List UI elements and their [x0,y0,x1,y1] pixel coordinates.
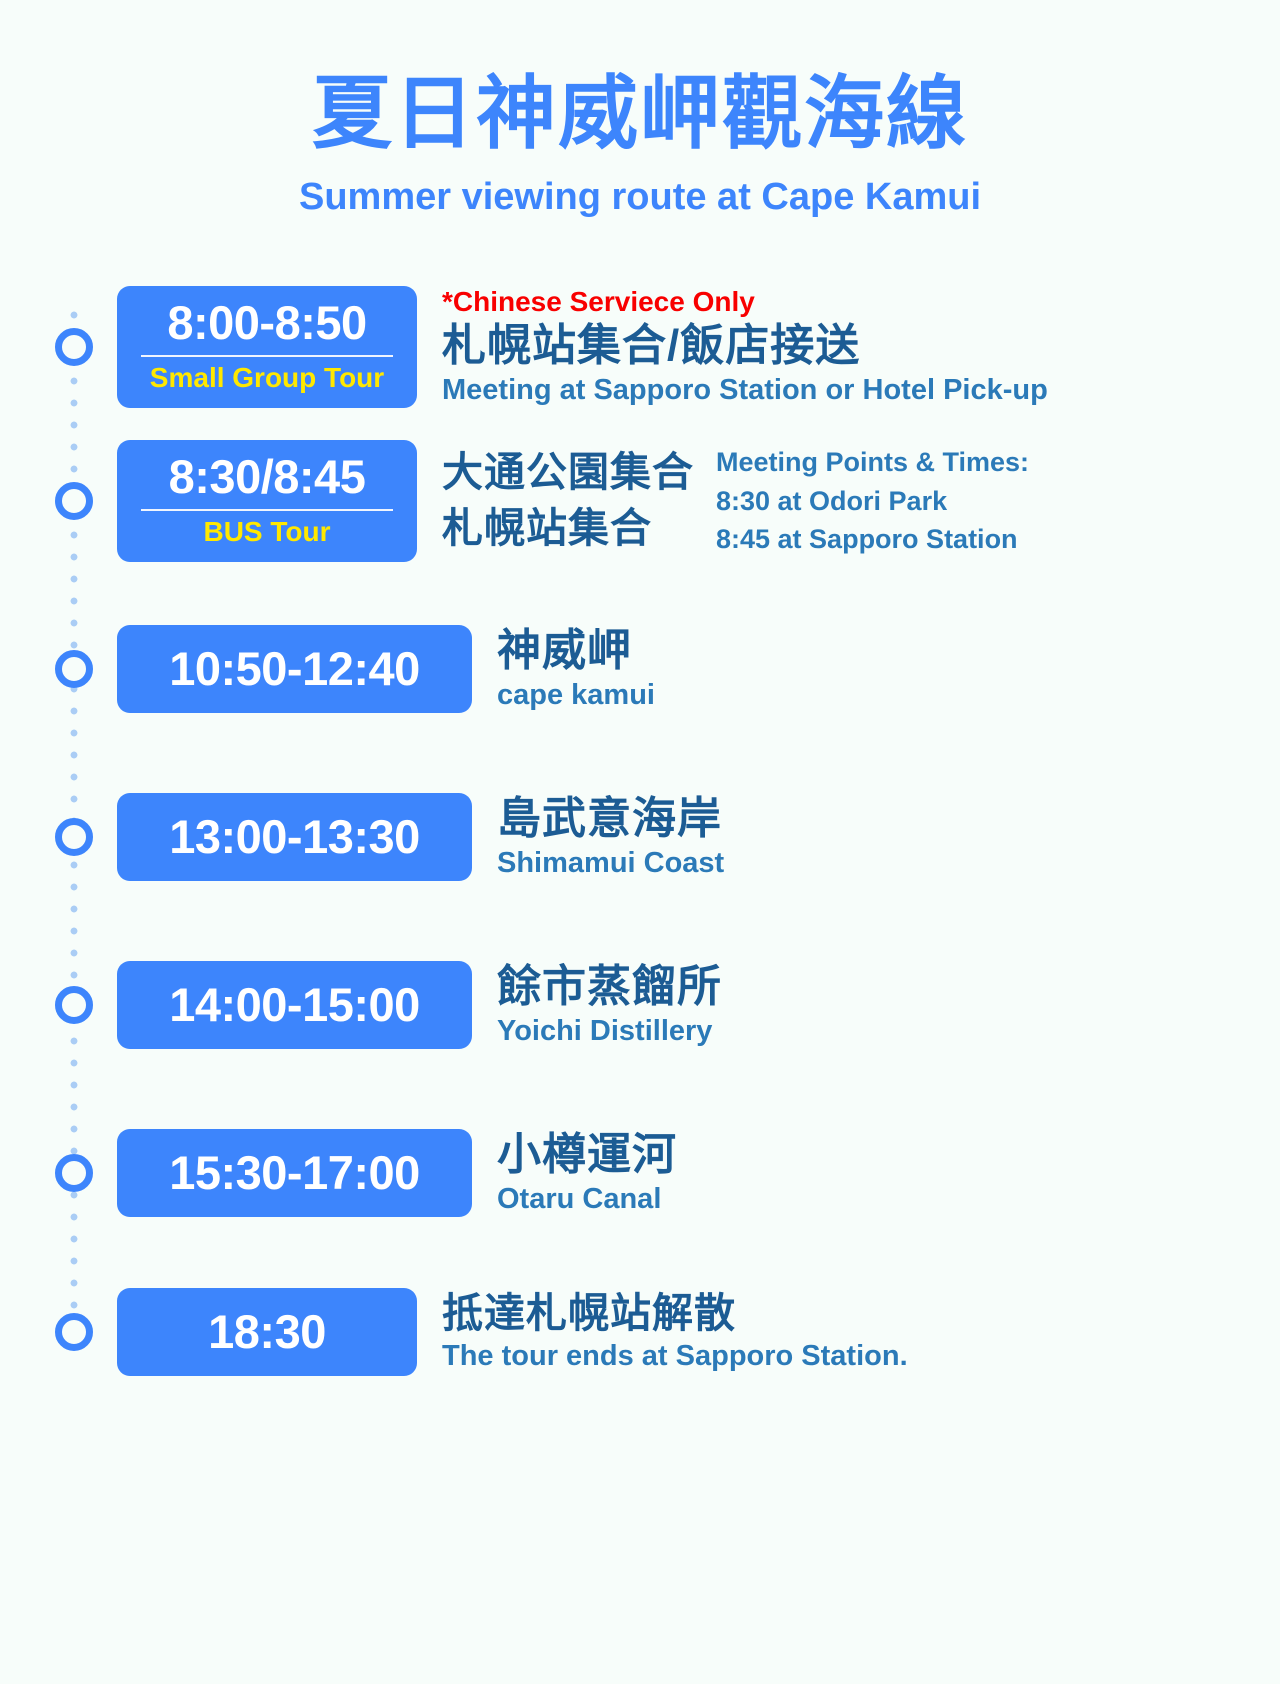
itinerary-poster: 夏日神威岬觀海線 Summer viewing route at Cape Ka… [0,0,1280,1684]
timeline-row: 8:00-8:50 Small Group Tour *Chinese Serv… [0,277,1280,417]
row-content: 島武意海岸 Shimamui Coast [497,793,724,881]
meeting-point-detail: 8:30 at Odori Park [716,482,1029,521]
page-title-english: Summer viewing route at Cape Kamui [0,176,1280,219]
row-content: *Chinese Serviece Only 札幌站集合/飯店接送 Meetin… [442,286,1048,408]
time-badge: 13:00-13:30 [117,793,472,881]
timeline-row: 10:50-12:40 神威岬 cape kamui [0,585,1280,753]
stop-title-chinese: 抵達札幌站解散 [442,1290,908,1338]
itinerary-timeline: 8:00-8:50 Small Group Tour *Chinese Serv… [0,277,1280,1407]
timeline-marker-icon [55,328,93,366]
time-label: 13:00-13:30 [169,812,420,863]
page-title-chinese: 夏日神威岬觀海線 [0,74,1280,154]
timeline-marker-icon [55,650,93,688]
time-badge: 10:50-12:40 [117,625,472,713]
stop-title-chinese: 島武意海岸 [497,793,724,844]
timeline-marker-icon [55,818,93,856]
timeline-marker-icon [55,1313,93,1351]
stop-title-english: Otaru Canal [497,1182,677,1217]
row-content: 神威岬 cape kamui [497,625,655,713]
time-label: 8:00-8:50 [129,298,405,349]
time-label: 10:50-12:40 [169,644,420,695]
timeline-row: 14:00-15:00 餘市蒸餾所 Yoichi Distillery [0,921,1280,1089]
tour-type-label: Small Group Tour [129,363,405,394]
stop-title-english: Yoichi Distillery [497,1014,722,1049]
stop-title-chinese: 小樽運河 [497,1129,677,1180]
timeline-row: 15:30-17:00 小樽運河 Otaru Canal [0,1089,1280,1257]
badge-divider [141,355,393,357]
service-note: *Chinese Serviece Only [442,286,1048,318]
stop-title-english: Shimamui Coast [497,846,724,881]
timeline-marker-icon [55,482,93,520]
time-badge: 8:30/8:45 BUS Tour [117,440,417,562]
stop-title-chinese: 神威岬 [497,625,655,676]
meeting-point-chinese: 大通公園集合 [442,445,694,501]
timeline-marker-icon [55,986,93,1024]
timeline-row: 13:00-13:30 島武意海岸 Shimamui Coast [0,753,1280,921]
meeting-points-english: Meeting Points & Times: 8:30 at Odori Pa… [716,443,1029,560]
stop-title-english: Meeting at Sapporo Station or Hotel Pick… [442,373,1048,408]
meeting-points-heading: Meeting Points & Times: [716,443,1029,482]
time-badge: 15:30-17:00 [117,1129,472,1217]
row-content: 大通公園集合 札幌站集合 Meeting Points & Times: 8:3… [442,443,1029,560]
time-badge: 18:30 [117,1288,417,1376]
stop-title-chinese: 札幌站集合/飯店接送 [442,320,1048,371]
timeline-row: 8:30/8:45 BUS Tour 大通公園集合 札幌站集合 Meeting … [0,417,1280,585]
meeting-points-chinese: 大通公園集合 札幌站集合 [442,445,694,557]
stop-title-english: The tour ends at Sapporo Station. [442,1339,908,1374]
row-content: 抵達札幌站解散 The tour ends at Sapporo Station… [442,1290,908,1374]
time-label: 14:00-15:00 [169,980,420,1031]
stop-title-english: cape kamui [497,678,655,713]
poster-header: 夏日神威岬觀海線 Summer viewing route at Cape Ka… [0,0,1280,219]
timeline-marker-icon [55,1154,93,1192]
tour-type-label: BUS Tour [129,517,405,548]
time-badge: 14:00-15:00 [117,961,472,1049]
row-content: 餘市蒸餾所 Yoichi Distillery [497,961,722,1049]
badge-divider [141,509,393,511]
time-badge: 8:00-8:50 Small Group Tour [117,286,417,408]
meeting-point-detail: 8:45 at Sapporo Station [716,520,1029,559]
row-content: 小樽運河 Otaru Canal [497,1129,677,1217]
time-label: 15:30-17:00 [169,1148,420,1199]
timeline-row: 18:30 抵達札幌站解散 The tour ends at Sapporo S… [0,1257,1280,1407]
time-label: 8:30/8:45 [129,452,405,503]
stop-title-chinese: 餘市蒸餾所 [497,961,722,1012]
time-label: 18:30 [208,1307,326,1358]
meeting-point-chinese: 札幌站集合 [442,501,694,557]
